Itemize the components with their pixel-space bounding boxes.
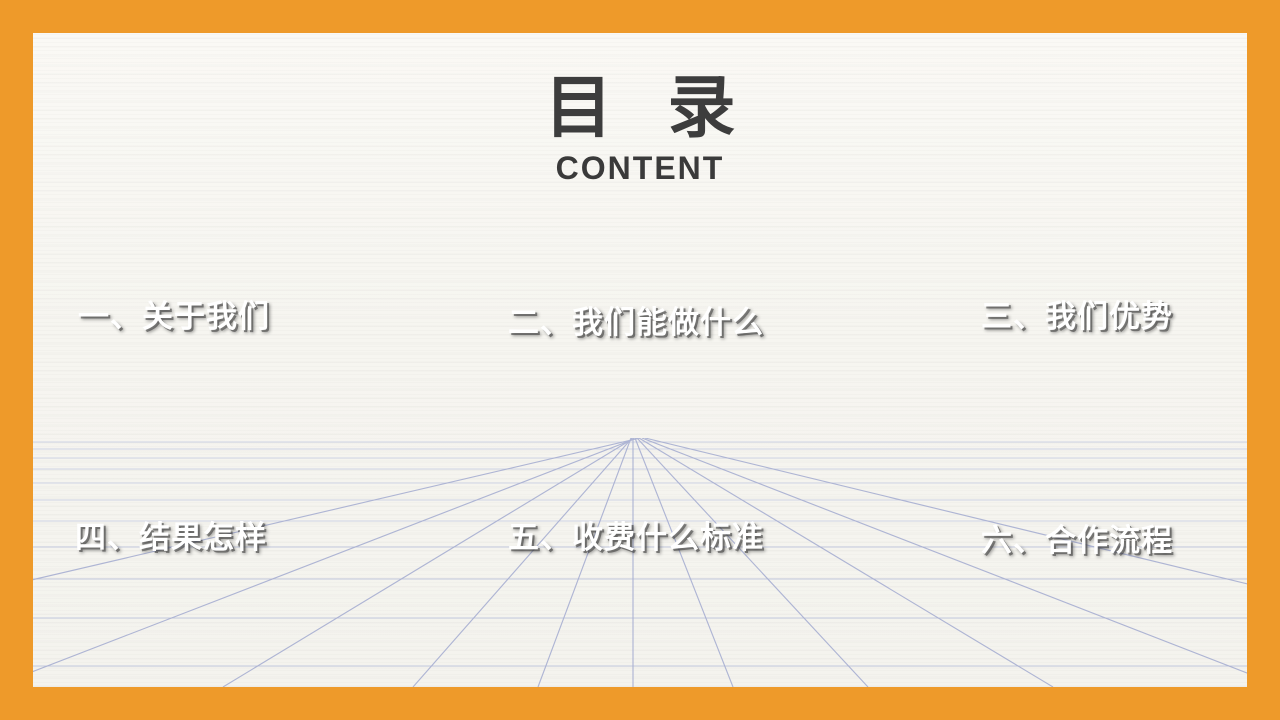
tile-drop-shadow	[496, 369, 824, 399]
content-item-label: 六、合作流程	[981, 515, 1173, 560]
page-title: 目 录	[33, 73, 1247, 144]
slide-canvas: 目 录 CONTENT 一、关于我们 二、我们能做什么 三、我们优势 四、结果怎…	[0, 0, 1280, 720]
slide-header: 目 录 CONTENT	[33, 73, 1247, 187]
content-item-3[interactable]: 三、我们优势	[963, 250, 1220, 377]
tile-drop-shadow	[969, 590, 1224, 620]
content-item-6[interactable]: 六、合作流程	[963, 470, 1220, 604]
page-subtitle: CONTENT	[33, 150, 1247, 187]
tile-drop-shadow	[66, 362, 316, 392]
content-item-5[interactable]: 五、收费什么标准	[490, 470, 821, 599]
content-item-label: 二、我们能做什么	[508, 297, 764, 342]
content-item-label: 五、收费什么标准	[508, 512, 764, 557]
tile-drop-shadow	[63, 584, 315, 614]
content-item-label: 一、关于我们	[78, 291, 270, 336]
content-item-label: 三、我们优势	[981, 291, 1173, 336]
content-item-2[interactable]: 二、我们能做什么	[490, 255, 820, 383]
content-item-4[interactable]: 四、结果怎样	[57, 470, 311, 598]
tile-drop-shadow	[496, 585, 825, 615]
tile-drop-shadow	[969, 363, 1224, 393]
slide-inner-panel: 目 录 CONTENT 一、关于我们 二、我们能做什么 三、我们优势 四、结果怎…	[33, 33, 1247, 687]
content-item-1[interactable]: 一、关于我们	[60, 250, 312, 376]
content-item-label: 四、结果怎样	[75, 512, 267, 557]
